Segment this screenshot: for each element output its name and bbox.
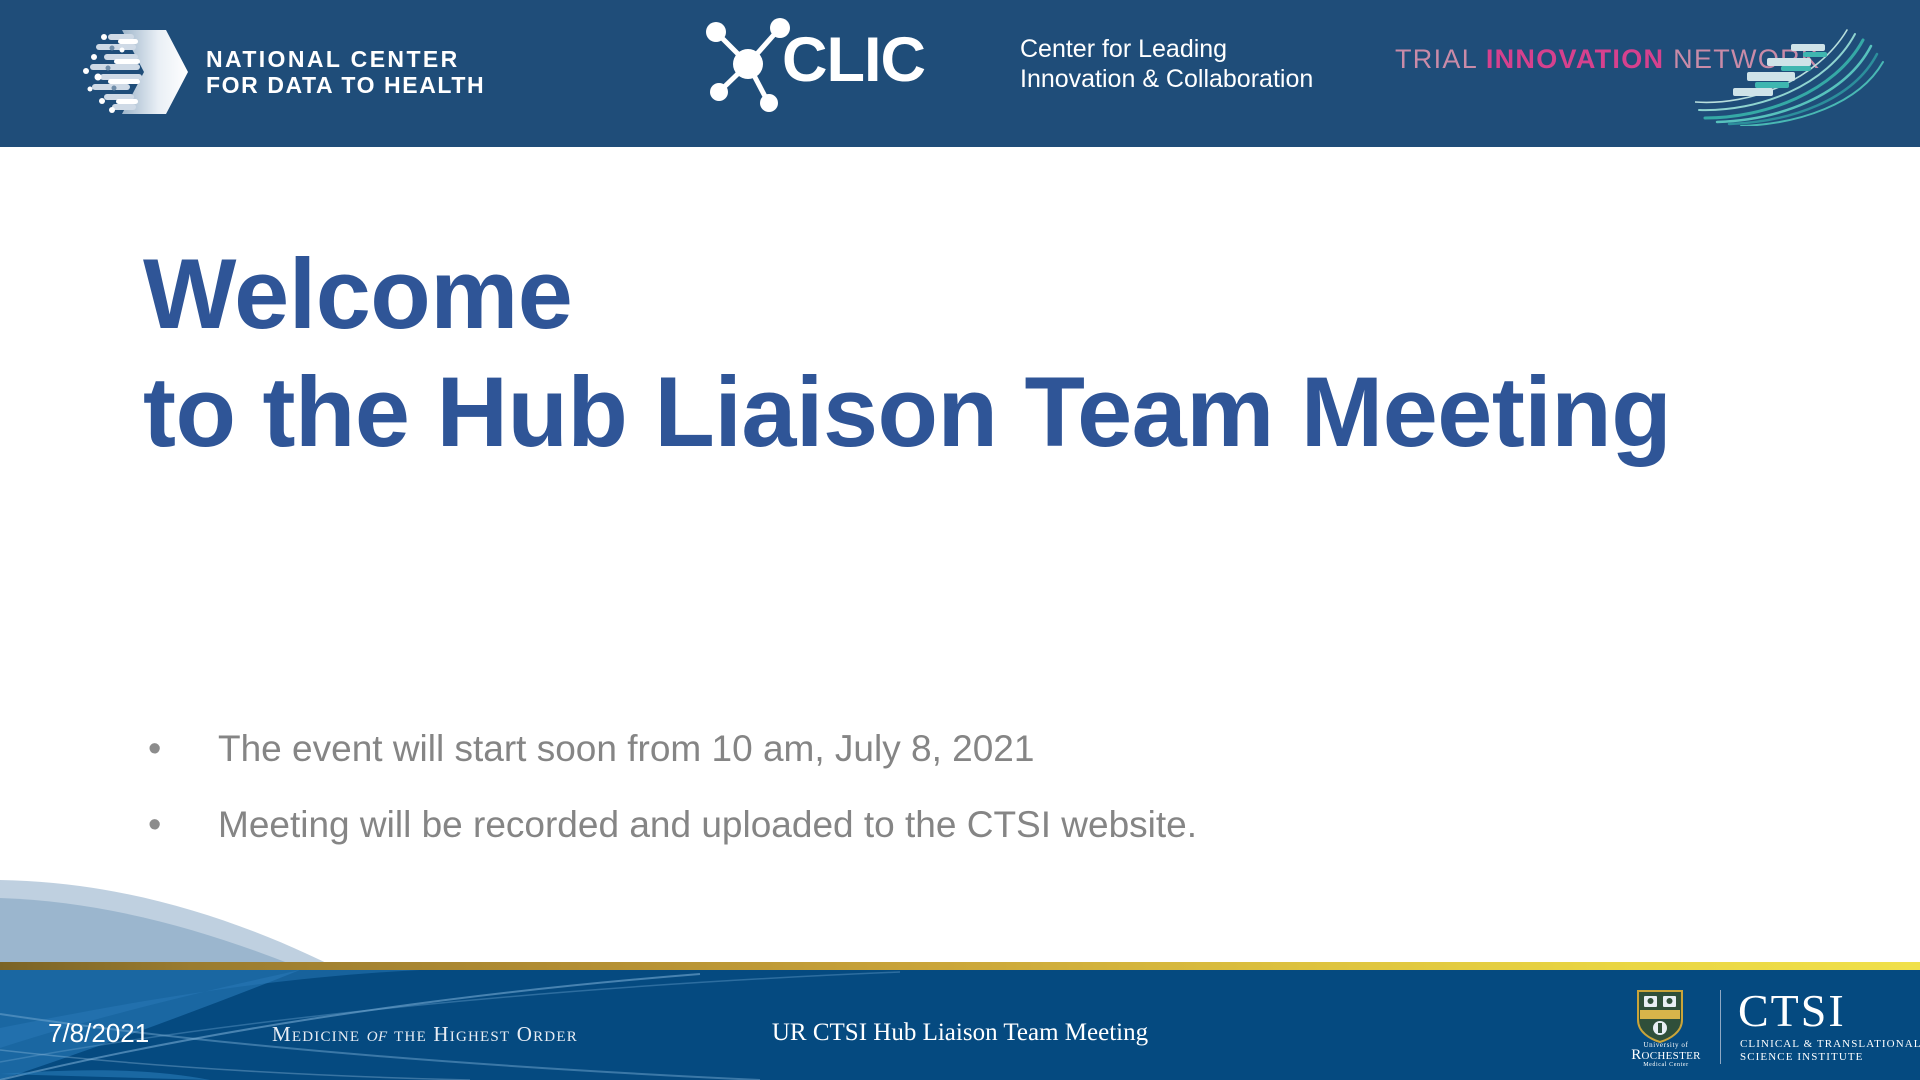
logo-divider — [1720, 990, 1721, 1064]
ncdh-wordmark-line1: NATIONAL CENTER — [206, 46, 485, 72]
ur-line2: Rochester — [1626, 1050, 1706, 1060]
ncdh-wordmark: NATIONAL CENTER FOR DATA TO HEALTH — [206, 46, 485, 98]
title-line-2: to the Hub Liaison Team Meeting — [143, 353, 1863, 471]
tin-word-trial: TRIAL — [1395, 44, 1477, 74]
bullet-marker-icon: • — [130, 723, 218, 775]
presentation-slide: NATIONAL CENTER FOR DATA TO HEALTH — [0, 0, 1920, 1080]
bullet-text: Meeting will be recorded and uploaded to… — [218, 799, 1197, 851]
trial-innovation-network-logo: TRIAL INNOVATION NETWORK — [1395, 22, 1895, 126]
ctsi-subtitle-line1: CLINICAL & TRANSLATIONAL — [1740, 1038, 1920, 1051]
list-item: • Meeting will be recorded and uploaded … — [130, 799, 1630, 851]
ncdh-wordmark-line2: FOR DATA TO HEALTH — [206, 72, 485, 98]
fiber-swoosh-icon — [1695, 14, 1905, 126]
bullet-text: The event will start soon from 10 am, Ju… — [218, 723, 1034, 775]
ur-ctsi-logo: University of Rochester Medical Center C… — [1634, 988, 1884, 1072]
ncdh-logo: NATIONAL CENTER FOR DATA TO HEALTH — [78, 26, 498, 118]
ctsi-subtitle: CLINICAL & TRANSLATIONAL SCIENCE INSTITU… — [1740, 1038, 1920, 1064]
clic-tagline-line2: Innovation & Collaboration — [1020, 64, 1313, 94]
tin-word-innovation: INNOVATION — [1486, 44, 1665, 74]
footer-accent-rule — [0, 962, 1920, 970]
slide-header-band: NATIONAL CENTER FOR DATA TO HEALTH — [0, 0, 1920, 147]
ctsi-wordmark: CTSI — [1738, 986, 1846, 1036]
clic-tagline: Center for Leading Innovation & Collabor… — [1020, 34, 1313, 94]
clic-tagline-line1: Center for Leading — [1020, 34, 1313, 64]
slide-title: Welcome to the Hub Liaison Team Meeting — [143, 235, 1863, 471]
clic-logo: CLIC Center for Leading Innovation & Col… — [700, 16, 1220, 116]
title-line-1: Welcome — [143, 235, 1863, 353]
bullet-marker-icon: • — [130, 799, 218, 851]
university-of-rochester-wordmark: University of Rochester Medical Center — [1626, 1040, 1706, 1070]
university-shield-icon — [1634, 988, 1686, 1044]
clic-wordmark: CLIC — [782, 29, 925, 92]
hexagon-data-arrow-icon — [78, 26, 190, 118]
slide-body-bullets: • The event will start soon from 10 am, … — [130, 723, 1630, 875]
ctsi-subtitle-line2: SCIENCE INSTITUTE — [1740, 1051, 1920, 1064]
list-item: • The event will start soon from 10 am, … — [130, 723, 1630, 775]
